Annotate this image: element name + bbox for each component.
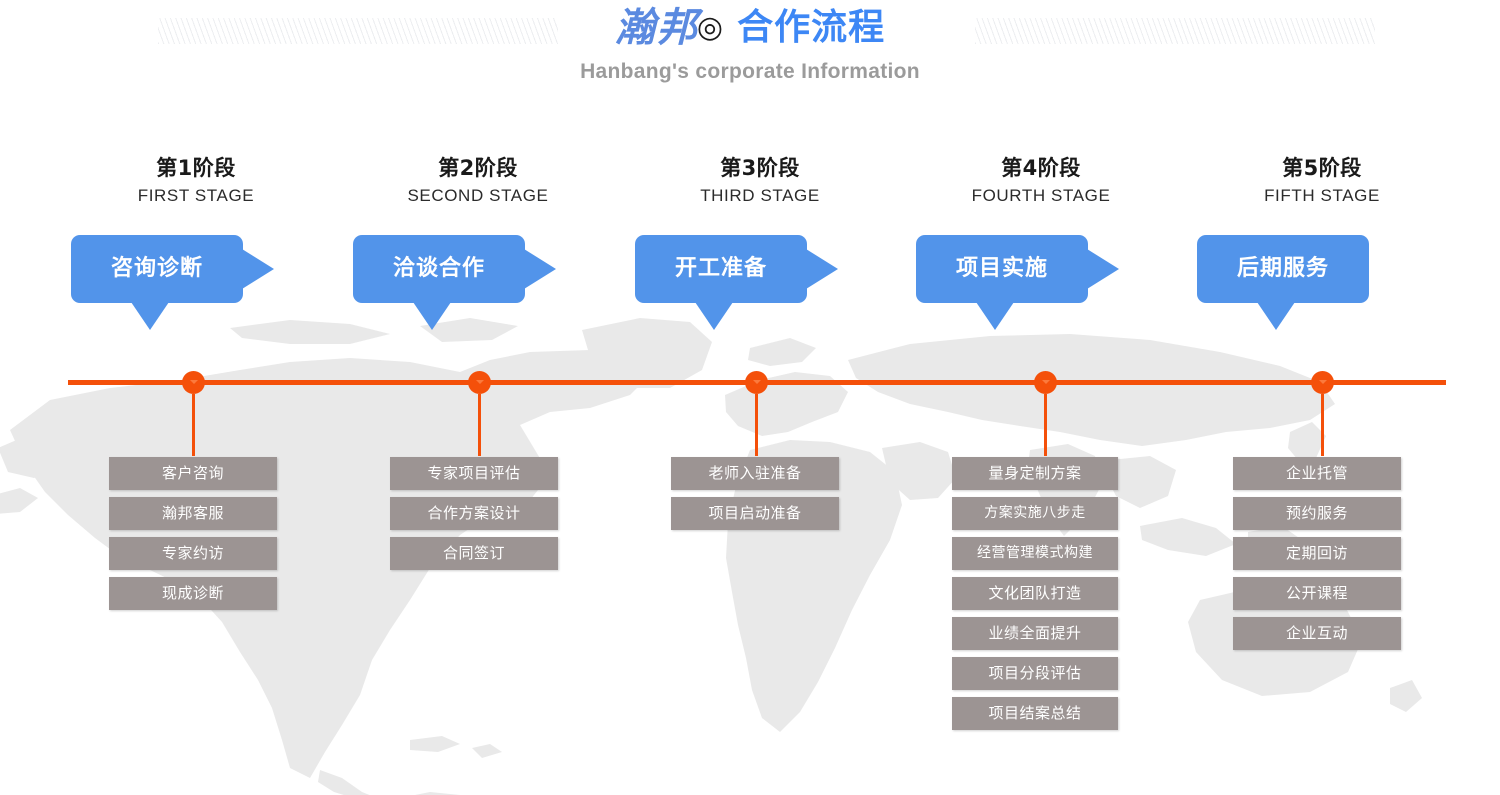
stage-header-1: 第1阶段 FIRST STAGE xyxy=(46,155,346,208)
list-item-label: 定期回访 xyxy=(1233,537,1401,570)
list-item[interactable]: 项目结案总结 xyxy=(952,697,1118,730)
timeline-dot-5[interactable] xyxy=(1311,371,1334,394)
stage-items-1: 客户咨询 瀚邦客服 专家约访 现成诊断 xyxy=(109,457,277,617)
stage-title-en-3: THIRD STAGE xyxy=(610,184,910,208)
bubble-arrow-icon-3 xyxy=(806,249,838,289)
stage-items-2: 专家项目评估 合作方案设计 合同签订 xyxy=(390,457,558,577)
stage-title-cn-4: 第4阶段 xyxy=(891,155,1191,181)
list-item-label: 专家项目评估 xyxy=(390,457,558,490)
brand-circle-icon: ◎ xyxy=(697,10,723,45)
bubble-tail-icon-5 xyxy=(1257,302,1295,330)
list-item-label: 项目结案总结 xyxy=(952,697,1118,730)
timeline-stem-1 xyxy=(192,394,195,456)
list-item-label: 瀚邦客服 xyxy=(109,497,277,530)
list-item-label: 量身定制方案 xyxy=(952,457,1118,490)
timeline-dot-1[interactable] xyxy=(182,371,205,394)
stage-bubble-1[interactable]: 咨询诊断 xyxy=(71,235,243,303)
page-subtitle: Hanbang's corporate Information xyxy=(0,60,1500,84)
timeline-dot-inner-icon-3 xyxy=(753,380,761,384)
stage-column-3: 第3阶段 THIRD STAGE 开工准备 xyxy=(610,155,910,208)
infographic-canvas: 瀚邦◎合作流程 Hanbang's corporate Information … xyxy=(0,0,1500,795)
list-item-label: 企业互动 xyxy=(1233,617,1401,650)
list-item-label: 现成诊断 xyxy=(109,577,277,610)
stage-column-4: 第4阶段 FOURTH STAGE 项目实施 xyxy=(891,155,1191,208)
list-item[interactable]: 专家约访 xyxy=(109,537,277,570)
stage-bubble-label-4: 项目实施 xyxy=(916,235,1088,303)
list-item[interactable]: 合同签订 xyxy=(390,537,558,570)
list-item-label: 经营管理模式构建 xyxy=(952,537,1118,570)
list-item[interactable]: 合作方案设计 xyxy=(390,497,558,530)
stage-items-4: 量身定制方案 方案实施八步走 经营管理模式构建 文化团队打造 业绩全面提升 项目… xyxy=(952,457,1118,737)
list-item-label: 预约服务 xyxy=(1233,497,1401,530)
list-item-label: 项目启动准备 xyxy=(671,497,839,530)
list-item[interactable]: 公开课程 xyxy=(1233,577,1401,610)
stage-bubble-4[interactable]: 项目实施 xyxy=(916,235,1088,303)
list-item[interactable]: 企业互动 xyxy=(1233,617,1401,650)
list-item[interactable]: 现成诊断 xyxy=(109,577,277,610)
timeline-stem-4 xyxy=(1044,394,1047,456)
list-item-label: 项目分段评估 xyxy=(952,657,1118,690)
bubble-tail-icon-2 xyxy=(413,302,451,330)
bubble-tail-icon-4 xyxy=(976,302,1014,330)
stage-header-3: 第3阶段 THIRD STAGE xyxy=(610,155,910,208)
list-item[interactable]: 定期回访 xyxy=(1233,537,1401,570)
bubble-arrow-icon-1 xyxy=(242,249,274,289)
page-title: 瀚邦◎合作流程 xyxy=(0,8,1500,48)
list-item[interactable]: 量身定制方案 xyxy=(952,457,1118,490)
stage-title-en-2: SECOND STAGE xyxy=(328,184,628,208)
timeline-dot-inner-icon-5 xyxy=(1319,380,1327,384)
stage-title-cn-1: 第1阶段 xyxy=(46,155,346,181)
stage-bubble-label-3: 开工准备 xyxy=(635,235,807,303)
stage-header-2: 第2阶段 SECOND STAGE xyxy=(328,155,628,208)
stage-items-3: 老师入驻准备 项目启动准备 xyxy=(671,457,839,537)
timeline-stem-3 xyxy=(755,394,758,456)
list-item-label: 合作方案设计 xyxy=(390,497,558,530)
timeline-dot-inner-icon-2 xyxy=(476,380,484,384)
stage-bubble-5[interactable]: 后期服务 xyxy=(1197,235,1369,303)
timeline-stem-5 xyxy=(1321,394,1324,456)
list-item[interactable]: 专家项目评估 xyxy=(390,457,558,490)
stage-column-2: 第2阶段 SECOND STAGE 洽谈合作 xyxy=(328,155,628,208)
list-item-label: 文化团队打造 xyxy=(952,577,1118,610)
stage-bubble-wrap-5: 后期服务 xyxy=(1172,235,1472,355)
stage-bubble-label-1: 咨询诊断 xyxy=(71,235,243,303)
list-item[interactable]: 企业托管 xyxy=(1233,457,1401,490)
list-item-label: 客户咨询 xyxy=(109,457,277,490)
list-item-label: 合同签订 xyxy=(390,537,558,570)
bubble-tail-icon-3 xyxy=(695,302,733,330)
timeline-dot-2[interactable] xyxy=(468,371,491,394)
list-item[interactable]: 瀚邦客服 xyxy=(109,497,277,530)
list-item-label: 老师入驻准备 xyxy=(671,457,839,490)
list-item-label: 业绩全面提升 xyxy=(952,617,1118,650)
list-item[interactable]: 文化团队打造 xyxy=(952,577,1118,610)
stage-title-en-1: FIRST STAGE xyxy=(46,184,346,208)
bubble-arrow-icon-2 xyxy=(524,249,556,289)
stage-bubble-wrap-1: 咨询诊断 xyxy=(46,235,346,355)
bubble-tail-icon-1 xyxy=(131,302,169,330)
stage-bubble-label-5: 后期服务 xyxy=(1197,235,1369,303)
stage-title-en-4: FOURTH STAGE xyxy=(891,184,1191,208)
timeline-dot-4[interactable] xyxy=(1034,371,1057,394)
stage-bubble-label-2: 洽谈合作 xyxy=(353,235,525,303)
stage-title-cn-5: 第5阶段 xyxy=(1172,155,1472,181)
stage-column-5: 第5阶段 FIFTH STAGE 后期服务 xyxy=(1172,155,1472,208)
timeline-dot-inner-icon-4 xyxy=(1042,380,1050,384)
list-item-label: 方案实施八步走 xyxy=(952,497,1118,530)
list-item[interactable]: 业绩全面提升 xyxy=(952,617,1118,650)
stage-header-4: 第4阶段 FOURTH STAGE xyxy=(891,155,1191,208)
stage-title-cn-2: 第2阶段 xyxy=(328,155,628,181)
stage-title-cn-3: 第3阶段 xyxy=(610,155,910,181)
timeline-dot-3[interactable] xyxy=(745,371,768,394)
stage-items-5: 企业托管 预约服务 定期回访 公开课程 企业互动 xyxy=(1233,457,1401,657)
list-item[interactable]: 方案实施八步走 xyxy=(952,497,1118,530)
brand-name: 瀚邦 xyxy=(615,5,699,51)
timeline-stem-2 xyxy=(478,394,481,456)
stage-bubble-2[interactable]: 洽谈合作 xyxy=(353,235,525,303)
stage-header-5: 第5阶段 FIFTH STAGE xyxy=(1172,155,1472,208)
list-item[interactable]: 预约服务 xyxy=(1233,497,1401,530)
bubble-arrow-icon-4 xyxy=(1087,249,1119,289)
stage-bubble-wrap-4: 项目实施 xyxy=(891,235,1191,355)
timeline-dot-inner-icon-1 xyxy=(190,380,198,384)
list-item[interactable]: 老师入驻准备 xyxy=(671,457,839,490)
list-item[interactable]: 项目启动准备 xyxy=(671,497,839,530)
stage-title-en-5: FIFTH STAGE xyxy=(1172,184,1472,208)
title-text: 合作流程 xyxy=(737,7,885,48)
list-item[interactable]: 客户咨询 xyxy=(109,457,277,490)
list-item-label: 专家约访 xyxy=(109,537,277,570)
stage-bubble-wrap-3: 开工准备 xyxy=(610,235,910,355)
stage-bubble-3[interactable]: 开工准备 xyxy=(635,235,807,303)
list-item-label: 企业托管 xyxy=(1233,457,1401,490)
list-item[interactable]: 经营管理模式构建 xyxy=(952,537,1118,570)
stage-bubble-wrap-2: 洽谈合作 xyxy=(328,235,628,355)
list-item-label: 公开课程 xyxy=(1233,577,1401,610)
stage-column-1: 第1阶段 FIRST STAGE 咨询诊断 xyxy=(46,155,346,208)
list-item[interactable]: 项目分段评估 xyxy=(952,657,1118,690)
